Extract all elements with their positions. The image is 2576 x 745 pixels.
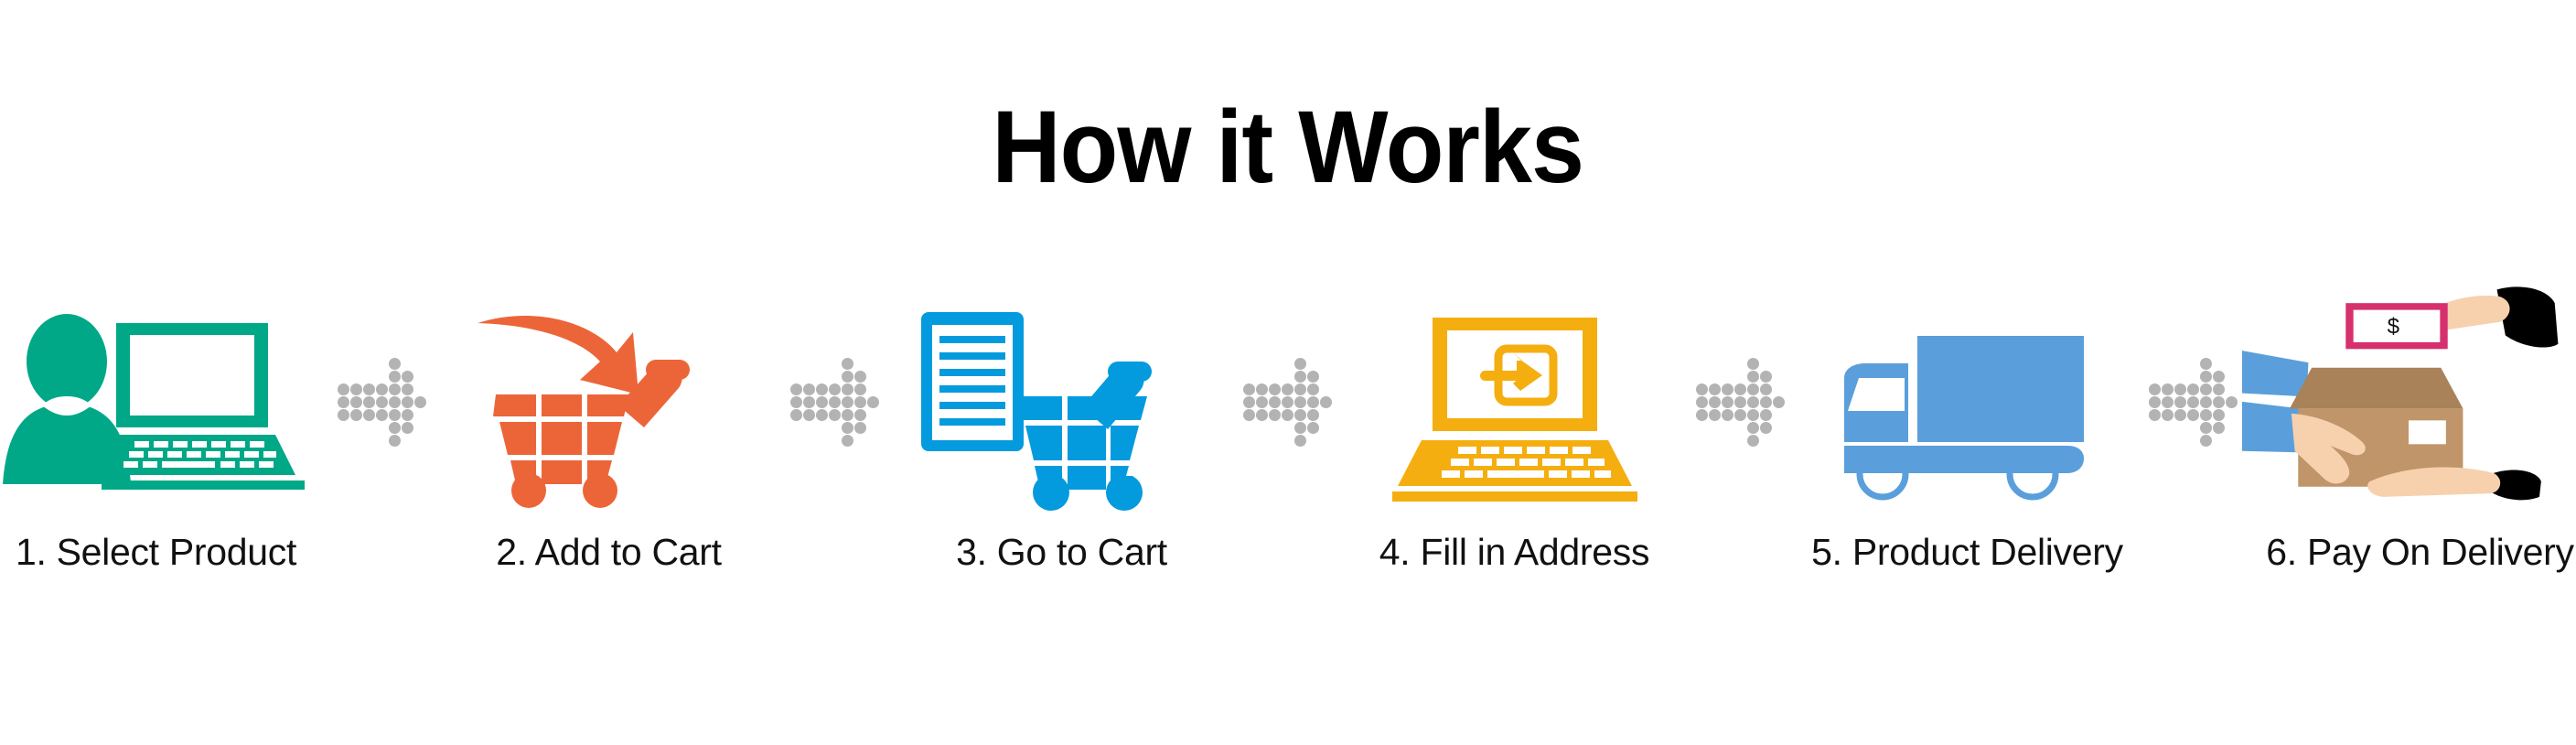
document-and-cart-icon (916, 307, 1208, 503)
person-with-laptop-icon (1, 307, 312, 503)
separator-1 (335, 302, 431, 503)
step-5-artwork (1789, 302, 2146, 503)
dotted-arrow-right-icon (1696, 358, 1786, 448)
step-4-label: 4. Fill in Address (1379, 531, 1649, 574)
infographic-root: How it Works (0, 0, 2576, 745)
dotted-arrow-right-icon (1243, 358, 1333, 448)
laptop-with-login-arrow-icon (1378, 307, 1652, 503)
dotted-arrow-right-icon (2149, 358, 2238, 448)
step-2-label: 2. Add to Cart (496, 531, 722, 574)
page-title: How it Works (993, 96, 1584, 199)
sleeve-left-upper (2242, 351, 2308, 396)
step-3-go-to-cart[interactable]: 3. Go to Cart (884, 302, 1240, 574)
banknote-dollar-symbol: $ (2387, 315, 2399, 340)
step-2-add-to-cart[interactable]: 2. Add to Cart (431, 302, 788, 574)
step-6-pay-on-delivery[interactable]: $ 6. Pay On Delivery (2242, 302, 2576, 574)
box-top-flap (2290, 368, 2463, 409)
separator-2 (788, 302, 884, 503)
step-3-artwork (884, 302, 1240, 503)
step-1-artwork (0, 302, 335, 503)
step-5-label: 5. Product Delivery (1811, 531, 2123, 574)
steps-flow: 1. Select Product (0, 302, 2576, 686)
separator-5 (2146, 302, 2242, 503)
separator-4 (1693, 302, 1789, 503)
separator-3 (1240, 302, 1336, 503)
step-4-fill-in-address[interactable]: 4. Fill in Address (1336, 302, 1693, 574)
delivery-truck-icon (1817, 307, 2119, 503)
step-1-label: 1. Select Product (16, 531, 296, 574)
cart-wheels-icon (472, 474, 746, 511)
step-6-artwork: $ (2242, 302, 2576, 503)
dotted-arrow-right-icon (338, 358, 427, 448)
cart-wheels-icon (916, 476, 1208, 513)
step-3-label: 3. Go to Cart (956, 531, 1167, 574)
hands-exchanging-box-and-money-icon: $ (2242, 276, 2576, 501)
step-4-artwork (1336, 302, 1693, 503)
step-6-label: 6. Pay On Delivery (2266, 531, 2573, 574)
dotted-arrow-right-icon (790, 358, 880, 448)
step-2-artwork (431, 302, 788, 503)
step-1-select-product[interactable]: 1. Select Product (0, 302, 335, 574)
step-5-product-delivery[interactable]: 5. Product Delivery (1789, 302, 2146, 574)
box-label (2409, 420, 2446, 444)
